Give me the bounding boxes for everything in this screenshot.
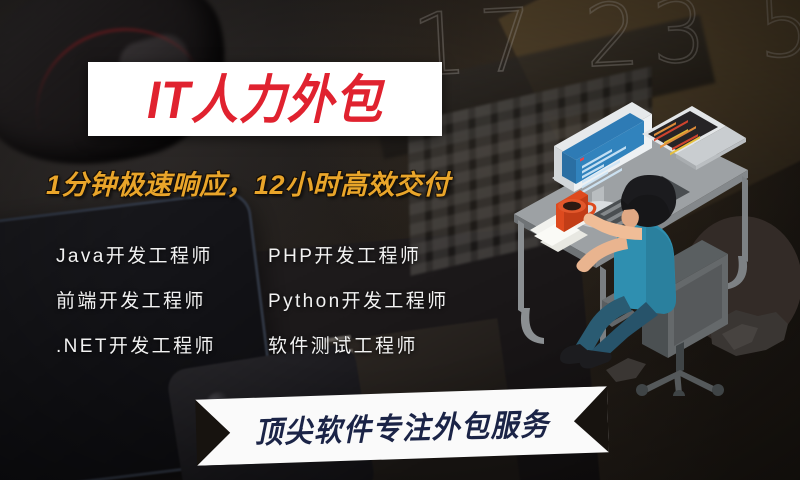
headline-plate: IT人力外包 xyxy=(88,62,442,136)
ribbon-banner: 顶尖软件专注外包服务 xyxy=(195,386,609,465)
promo-banner: 17 23 55 xyxy=(0,0,800,480)
role-item: PHP开发工程师 xyxy=(268,241,421,268)
role-item: 软件测试工程师 xyxy=(268,331,418,358)
role-row: .NET开发工程师 软件测试工程师 xyxy=(56,322,449,367)
role-list: Java开发工程师 PHP开发工程师 前端开发工程师 Python开发工程师 .… xyxy=(56,232,449,367)
page-title: IT人力外包 xyxy=(147,73,383,126)
ribbon-text: 顶尖软件专注外包服务 xyxy=(195,385,609,470)
role-item: .NET开发工程师 xyxy=(56,331,268,358)
role-item: Java开发工程师 xyxy=(56,241,268,268)
developer-illustration xyxy=(496,96,800,396)
role-row: 前端开发工程师 Python开发工程师 xyxy=(56,277,449,322)
role-row: Java开发工程师 PHP开发工程师 xyxy=(56,232,449,277)
subheadline: 1分钟极速响应，12小时高效交付 xyxy=(46,163,450,202)
role-item: 前端开发工程师 xyxy=(56,286,268,313)
role-item: Python开发工程师 xyxy=(268,286,449,313)
